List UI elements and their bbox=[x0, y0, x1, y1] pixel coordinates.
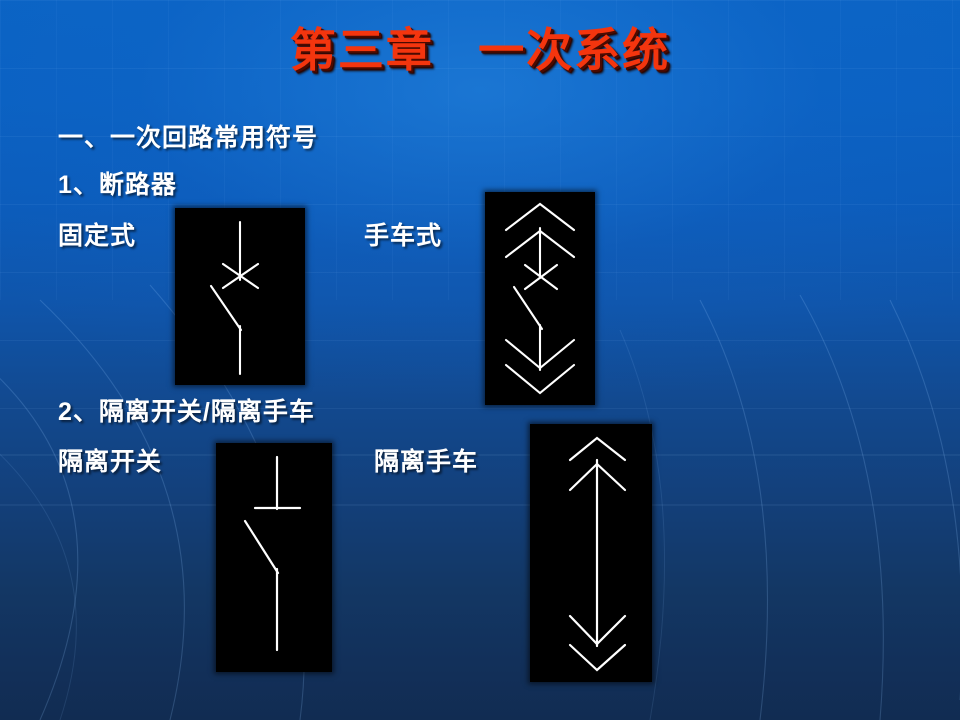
open-switch-blade bbox=[211, 286, 241, 330]
symbol-circuit-breaker-handcart bbox=[485, 192, 595, 405]
label-handcart-type: 手车式 bbox=[364, 216, 442, 252]
page-title: 第三章 一次系统 bbox=[0, 14, 960, 80]
item-label-isolator: 2、隔离开关/隔离手车 bbox=[58, 392, 315, 428]
section-heading: 一、一次回路常用符号 bbox=[58, 118, 318, 154]
item-label-breaker: 1、断路器 bbox=[58, 165, 177, 201]
chevron-up-outer bbox=[506, 204, 574, 230]
symbol-isolator-handcart bbox=[530, 424, 652, 682]
background-arc-pattern bbox=[0, 0, 960, 720]
label-isolator-switch: 隔离开关 bbox=[58, 442, 162, 478]
chevron-down-outer bbox=[570, 645, 625, 670]
symbol-isolator-switch bbox=[216, 443, 332, 672]
open-switch-blade bbox=[245, 521, 278, 573]
label-fixed-type: 固定式 bbox=[58, 216, 136, 252]
chevron-up-outer bbox=[570, 438, 625, 460]
label-isolator-handcart: 隔离手车 bbox=[374, 442, 478, 478]
symbol-circuit-breaker-fixed bbox=[175, 208, 305, 385]
open-switch-blade bbox=[514, 287, 542, 329]
slide-canvas: 第三章 一次系统 一、一次回路常用符号 1、断路器 固定式 手车式 2、隔离开关… bbox=[0, 0, 960, 720]
